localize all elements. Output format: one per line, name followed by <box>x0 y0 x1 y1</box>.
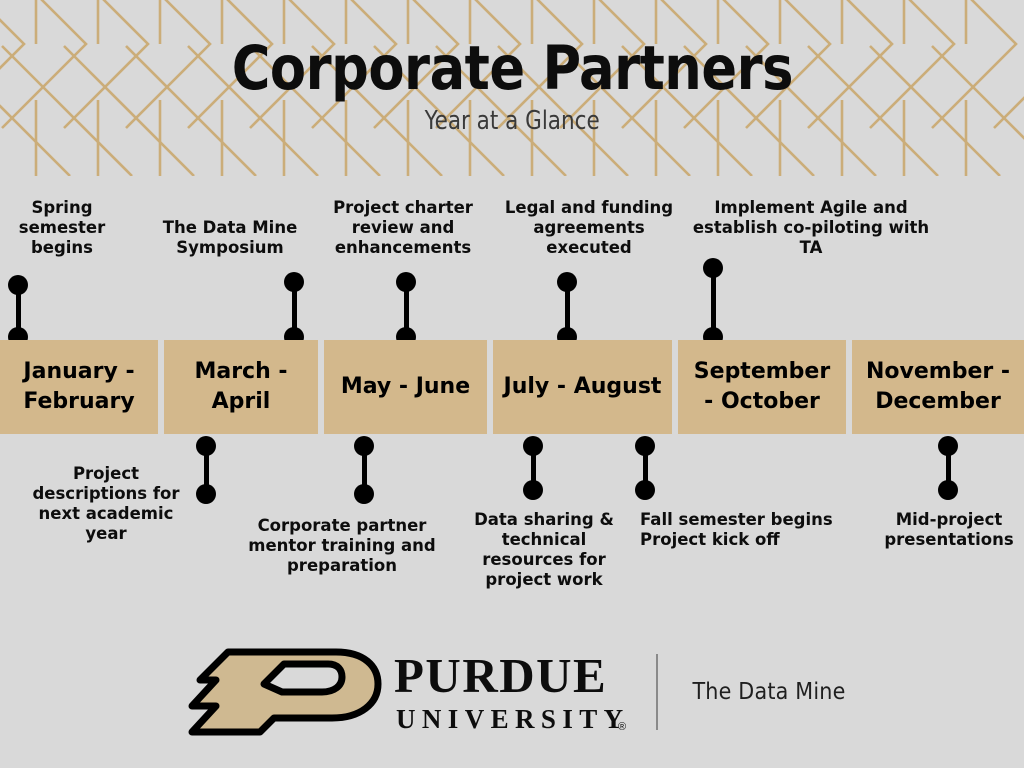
period-label: March - April <box>172 357 310 417</box>
header-banner: Corporate Partners Year at a Glance <box>0 0 1024 176</box>
connector-dot-bottom <box>354 484 374 504</box>
purdue-wordmark-text: PURDUE <box>394 648 607 703</box>
milestone-connector-below-3 <box>523 436 543 500</box>
footer: PURDUE UNIVERSITY ® The Data Mine <box>0 616 1024 768</box>
connector-dot-top <box>196 436 216 456</box>
header-text-group: Corporate Partners Year at a Glance <box>0 0 1024 176</box>
milestone-connector-below-4 <box>635 436 655 500</box>
period-label: September - October <box>686 357 838 417</box>
milestone-connector-above-5 <box>703 258 723 347</box>
logo-divider <box>656 654 658 730</box>
milestone-below-label-2: Corporate partner mentor training and pr… <box>246 516 438 576</box>
connector-dot-top <box>284 272 304 292</box>
milestone-connector-above-4 <box>557 272 577 347</box>
connector-dot-top <box>354 436 374 456</box>
connector-dot-top <box>703 258 723 278</box>
page-subtitle: Year at a Glance <box>424 106 599 136</box>
milestone-connector-above-1 <box>8 275 28 347</box>
milestone-below-label-1: Project descriptions for next academic y… <box>18 464 194 544</box>
milestone-above-label-1: Spring semester begins <box>6 198 118 258</box>
milestone-above-label-2: The Data Mine Symposium <box>150 218 310 258</box>
milestone-below-label-3: Data sharing & technical resources for p… <box>464 510 624 590</box>
connector-dot-top <box>396 272 416 292</box>
connector-dot-top <box>635 436 655 456</box>
unit-name: The Data Mine <box>692 679 845 705</box>
connector-dot-top <box>8 275 28 295</box>
period-label: July - August <box>504 372 662 402</box>
registered-trademark-icon: ® <box>618 721 626 733</box>
milestone-above-label-4: Legal and funding agreements executed <box>494 198 684 258</box>
period-label: May - June <box>341 372 470 402</box>
connector-dot-bottom <box>196 484 216 504</box>
period-box-january-february[interactable]: January - February <box>0 340 158 434</box>
period-box-march-april[interactable]: March - April <box>164 340 318 434</box>
period-box-november-december[interactable]: November - December <box>852 340 1024 434</box>
university-wordmark-text: UNIVERSITY <box>396 704 630 734</box>
connector-dot-bottom <box>635 480 655 500</box>
purdue-p-icon <box>192 652 378 732</box>
milestone-connector-below-1 <box>196 436 216 504</box>
connector-dot-top <box>938 436 958 456</box>
milestone-above-label-5: Implement Agile and establish co-pilotin… <box>692 198 930 258</box>
milestone-connector-above-3 <box>396 272 416 347</box>
connector-dot-bottom <box>523 480 543 500</box>
milestone-above-label-3: Project charter review and enhancements <box>318 198 488 258</box>
period-label: November - December <box>860 357 1016 417</box>
milestone-connector-above-2 <box>284 272 304 347</box>
period-box-july-august[interactable]: July - August <box>493 340 672 434</box>
milestone-below-label-4: Fall semester begins Project kick off <box>640 510 862 550</box>
milestone-below-label-5: Mid-project presentations <box>874 510 1024 550</box>
milestone-connector-below-2 <box>354 436 374 504</box>
milestone-connector-below-5 <box>938 436 958 500</box>
period-box-september-october[interactable]: September - October <box>678 340 846 434</box>
purdue-logo-lockup: PURDUE UNIVERSITY ® The Data Mine <box>178 644 845 740</box>
period-box-may-june[interactable]: May - June <box>324 340 487 434</box>
connector-dot-top <box>523 436 543 456</box>
page-title: Corporate Partners <box>231 36 792 102</box>
purdue-wordmark-logo: PURDUE UNIVERSITY ® <box>178 644 630 740</box>
connector-dot-top <box>557 272 577 292</box>
timeline: Spring semester begins The Data Mine Sym… <box>0 176 1024 616</box>
connector-dot-bottom <box>938 480 958 500</box>
period-label: January - February <box>8 357 150 417</box>
